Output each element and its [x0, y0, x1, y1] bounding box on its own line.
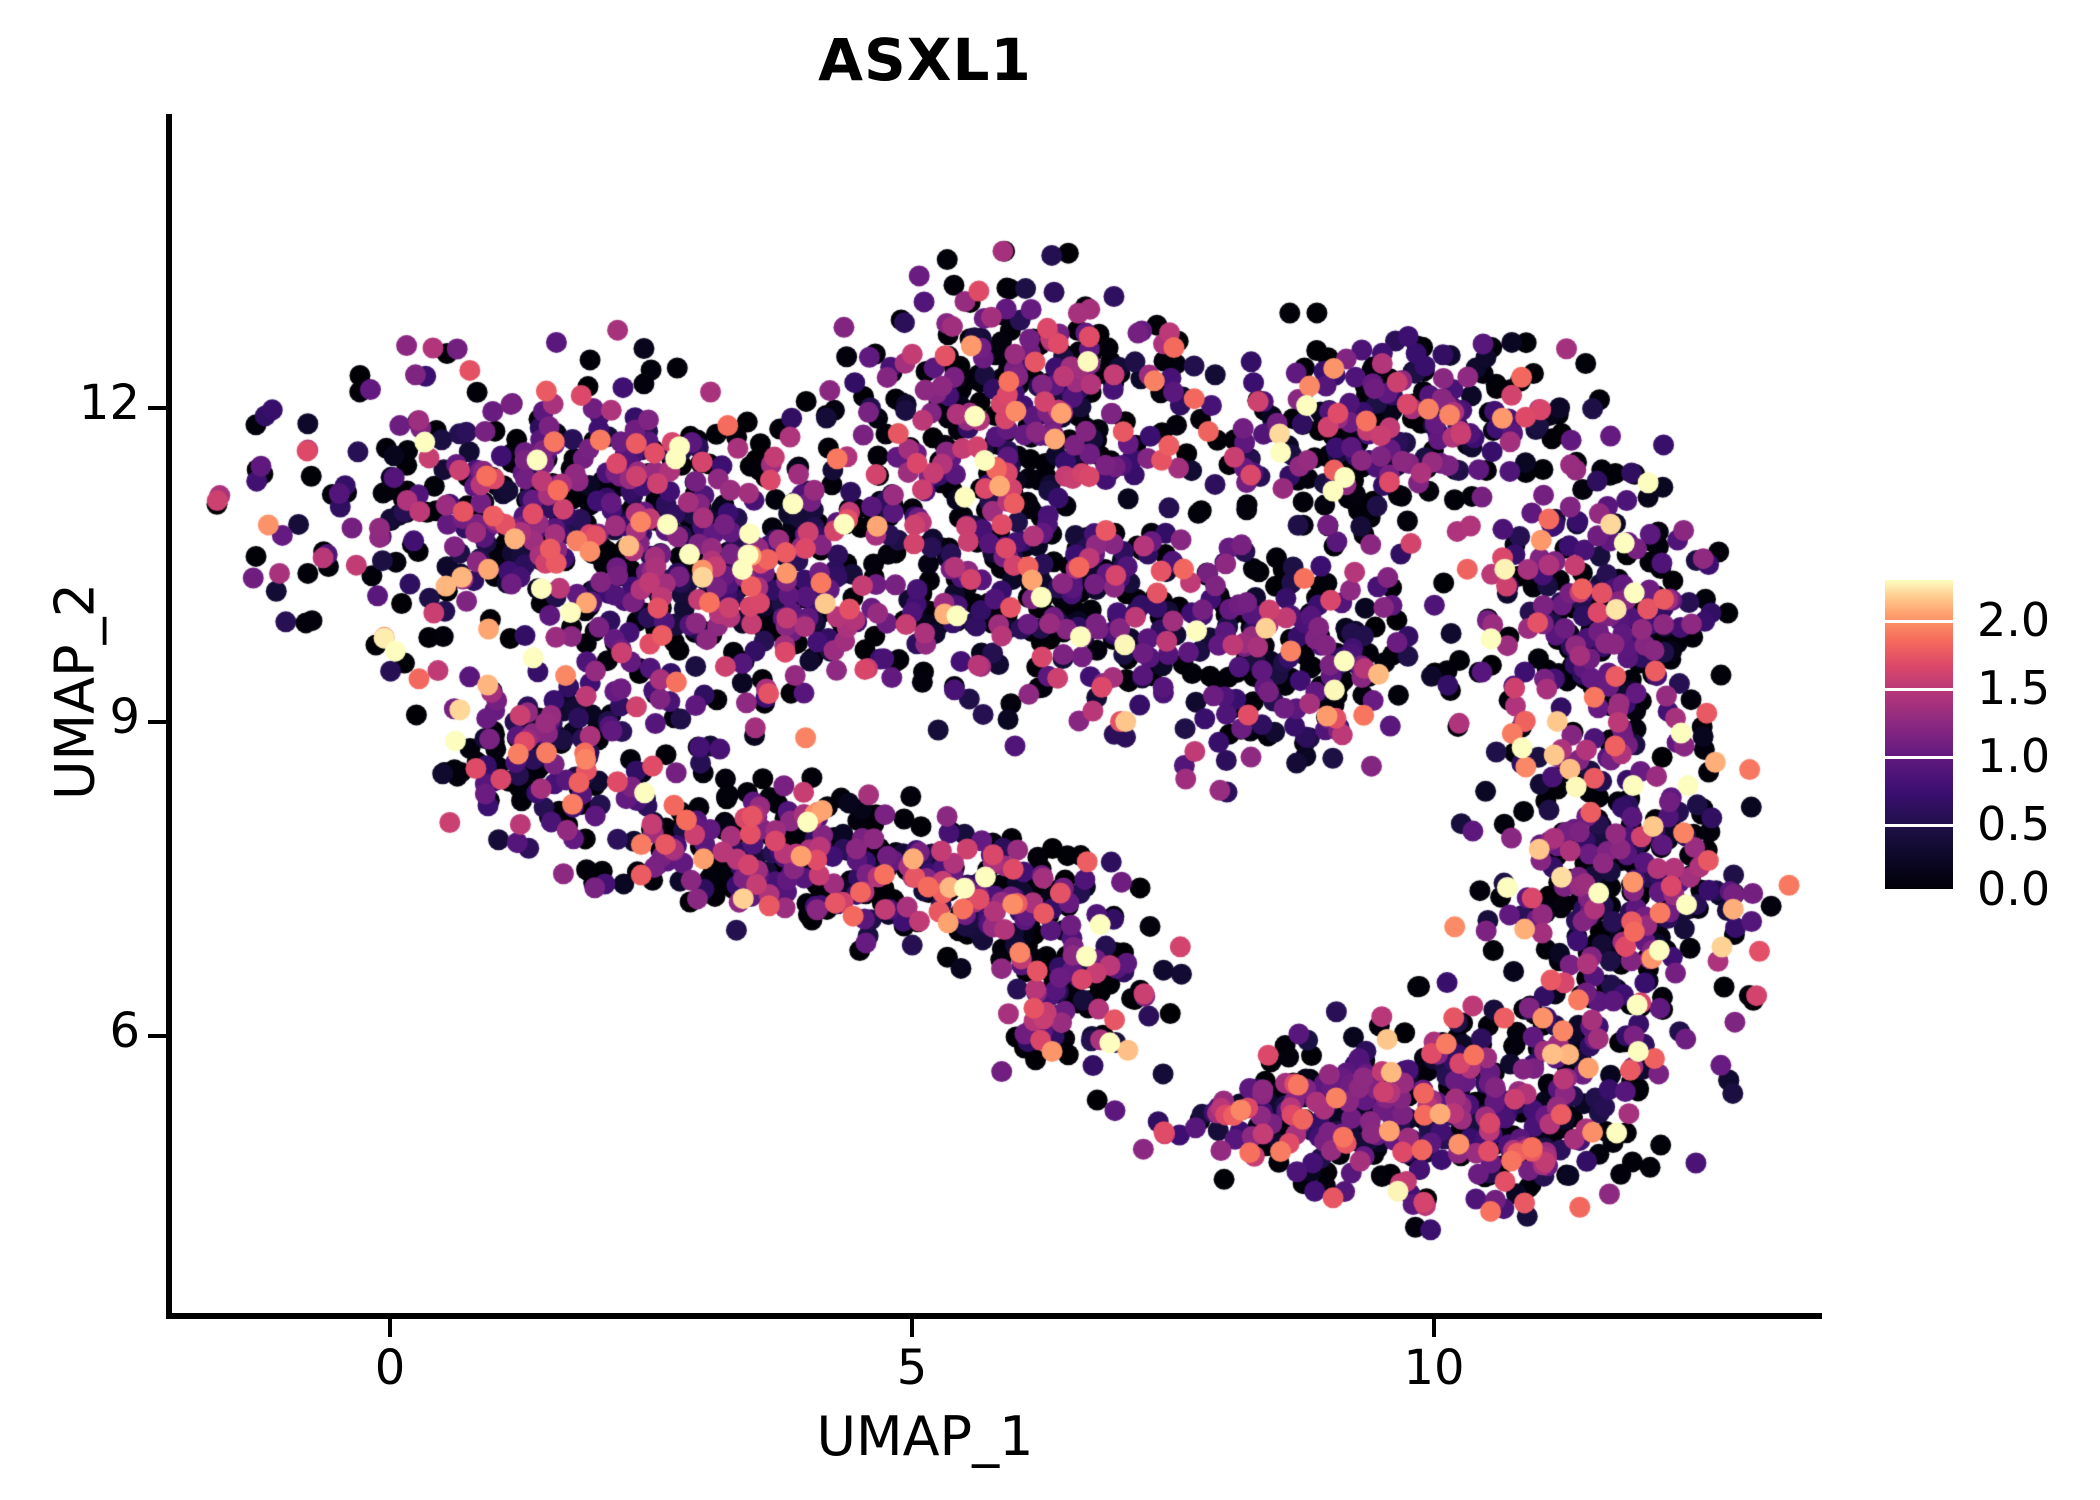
chart-root: ASXL1 0 5 10 12 9 6 UMAP_1 UMAP_2 2.0 1.…: [0, 0, 2100, 1500]
x-tick-label-10: 10: [1354, 1340, 1514, 1396]
colorbar-label-0-5: 0.5: [1977, 797, 2050, 851]
y-tick-mark-12: [148, 406, 166, 410]
colorbar-label-1-0: 1.0: [1977, 729, 2050, 783]
page-title: ASXL1: [0, 26, 1850, 94]
colorbar-gradient: [1885, 580, 1953, 892]
colorbar-tick-2-0: [1885, 620, 1953, 623]
colorbar-tick-1-5: [1885, 688, 1953, 691]
x-tick-label-5: 5: [832, 1340, 992, 1396]
colorbar-label-0-0: 0.0: [1977, 862, 2050, 916]
y-tick-label-6: 6: [0, 1003, 140, 1059]
scatter-plot-canvas: [168, 118, 1820, 1315]
x-tick-label-0: 0: [310, 1340, 470, 1396]
y-tick-mark-6: [148, 1034, 166, 1038]
colorbar-label-1-5: 1.5: [1977, 661, 2050, 715]
x-tick-mark-0: [388, 1319, 392, 1337]
x-tick-mark-5: [910, 1319, 914, 1337]
x-axis-label: UMAP_1: [0, 1405, 1850, 1468]
y-tick-mark-9: [148, 720, 166, 724]
y-axis-label: UMAP_2: [44, 392, 107, 992]
colorbar-tick-0-5: [1885, 824, 1953, 827]
colorbar-tick-0-0: [1885, 889, 1953, 892]
colorbar-label-2-0: 2.0: [1977, 593, 2050, 647]
colorbar-tick-1-0: [1885, 756, 1953, 759]
x-tick-mark-10: [1432, 1319, 1436, 1337]
